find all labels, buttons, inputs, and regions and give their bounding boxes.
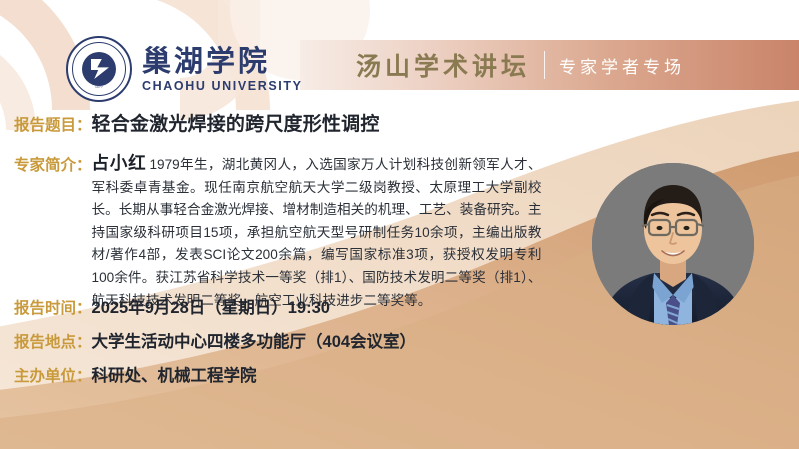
- portrait-illustration: [592, 163, 754, 325]
- speaker-bio-body: 1979年生，湖北黄冈人，入选国家万人计划科技创新领军人才、军科委卓青基金。现任…: [92, 157, 542, 308]
- report-title-value: 轻合金激光焊接的跨尺度形性调控: [92, 109, 380, 136]
- speaker-name: 占小红: [92, 153, 147, 173]
- report-time-value: 2025年9月28日（星期日）19:30: [92, 294, 330, 318]
- report-title-row: 报告题目： 轻合金激光焊接的跨尺度形性调控: [14, 109, 380, 136]
- report-time-row: 报告时间： 2025年9月28日（星期日）19:30: [14, 294, 330, 318]
- report-title-label: 报告题目：: [14, 113, 92, 135]
- speaker-bio-row: 专家简介： 占小红1979年生，湖北黄冈人，入选国家万人计划科技创新领军人才、军…: [14, 152, 559, 312]
- speaker-portrait: [592, 163, 754, 325]
- poster-content: 报告题目： 轻合金激光焊接的跨尺度形性调控 专家简介： 占小红1979年生，湖北…: [0, 0, 799, 449]
- seminar-poster: 汤山学术讲坛 专家学者专场 1977 巢湖学院 CHAOHU UNIVERSIT…: [0, 0, 799, 449]
- organizer-value: 科研处、机械工程学院: [92, 362, 257, 386]
- report-location-label: 报告地点：: [14, 330, 92, 352]
- report-location-row: 报告地点： 大学生活动中心四楼多功能厅（404会议室）: [14, 328, 416, 352]
- report-time-label: 报告时间：: [14, 296, 92, 318]
- organizer-label: 主办单位：: [14, 364, 92, 386]
- report-location-value: 大学生活动中心四楼多功能厅（404会议室）: [92, 328, 417, 352]
- organizer-row: 主办单位： 科研处、机械工程学院: [14, 362, 257, 386]
- speaker-bio-text: 占小红1979年生，湖北黄冈人，入选国家万人计划科技创新领军人才、军科委卓青基金…: [92, 152, 542, 312]
- speaker-bio-label: 专家简介：: [14, 152, 92, 175]
